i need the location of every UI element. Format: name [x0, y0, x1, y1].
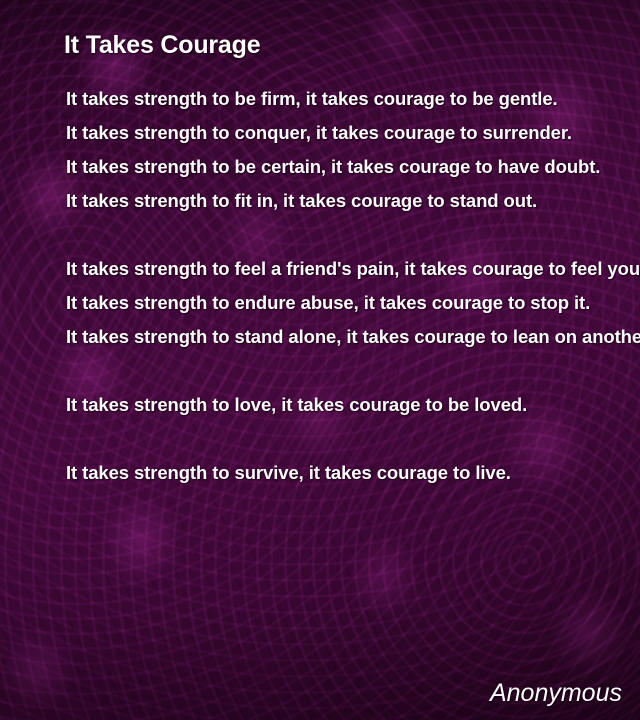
- poem-line: It takes strength to be firm, it takes c…: [66, 88, 640, 122]
- poem-line: It takes strength to endure abuse, it ta…: [66, 292, 640, 326]
- stanza-break: [66, 360, 640, 394]
- poem-line: It takes strength to love, it takes cour…: [66, 394, 640, 428]
- stanza-break: [66, 428, 640, 462]
- poem-body: It takes strength to be firm, it takes c…: [66, 88, 640, 496]
- poem-line: It takes strength to feel a friend's pai…: [66, 258, 640, 292]
- poem-line: It takes strength to survive, it takes c…: [66, 462, 640, 496]
- poem-line: It takes strength to conquer, it takes c…: [66, 122, 640, 156]
- poem-content: It Takes Courage It takes strength to be…: [0, 0, 640, 720]
- stanza-break: [66, 224, 640, 258]
- poem-line: It takes strength to fit in, it takes co…: [66, 190, 640, 224]
- poem-image: It Takes Courage It takes strength to be…: [0, 0, 640, 720]
- poem-line: It takes strength to stand alone, it tak…: [66, 326, 640, 360]
- page-title: It Takes Courage: [64, 31, 260, 60]
- poem-line: It takes strength to be certain, it take…: [66, 156, 640, 190]
- poem-attribution: Anonymous: [490, 679, 622, 708]
